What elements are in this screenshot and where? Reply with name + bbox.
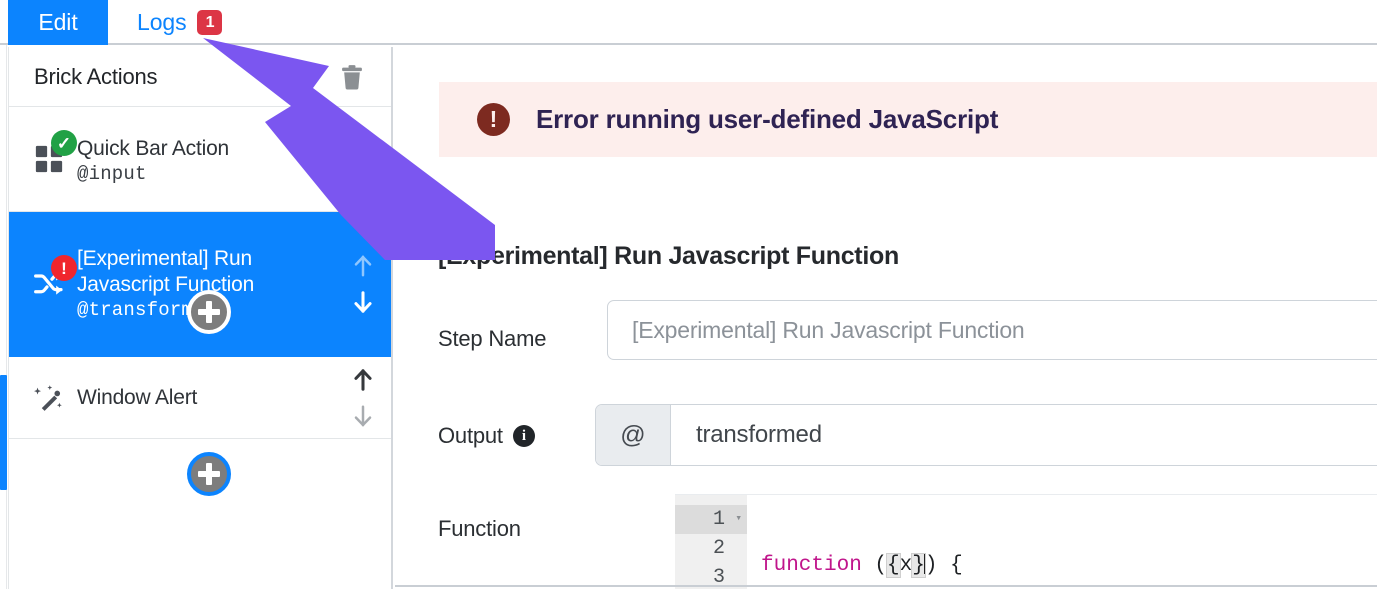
output-label-text: Output <box>438 423 503 449</box>
brick-actions-list: ✓ Quick Bar Action @input <box>9 107 391 439</box>
panel-bottom-divider <box>395 585 1377 587</box>
list-item-text: Quick Bar Action @input <box>73 132 341 187</box>
output-input[interactable]: transformed <box>671 405 1377 465</box>
list-item-output: @input <box>77 162 341 187</box>
error-banner: ! Error running user-defined JavaScript <box>439 82 1377 157</box>
function-code-editor[interactable]: 1 ▾ 2 3 function ({x}) { return x + y; } <box>675 494 1377 589</box>
quick-bar-action-icon-wrap: ✓ <box>25 135 73 183</box>
arrow-up-icon <box>350 253 376 279</box>
move-down-button[interactable] <box>348 401 378 431</box>
window-alert-icon-wrap <box>25 374 73 422</box>
arrow-down-icon <box>350 403 376 429</box>
list-item-move-buttons <box>341 251 385 317</box>
brick-actions-sidebar: Brick Actions <box>8 47 393 589</box>
list-item-selected[interactable]: ! [Experimental] Run Javascript Function… <box>9 212 391 357</box>
status-badge-success: ✓ <box>51 130 77 156</box>
tab-logs[interactable]: Logs 1 <box>122 0 254 45</box>
plus-icon <box>198 463 220 485</box>
check-icon: ✓ <box>57 135 71 152</box>
error-banner-message: Error running user-defined JavaScript <box>536 104 998 135</box>
list-item-move-buttons <box>341 365 385 431</box>
delete-button[interactable] <box>337 62 367 92</box>
move-up-button[interactable] <box>348 365 378 395</box>
arrow-down-icon <box>350 289 376 315</box>
tab-bar: Edit Logs 1 <box>0 0 1377 45</box>
tab-edit[interactable]: Edit <box>8 0 108 45</box>
move-down-button[interactable] <box>348 287 378 317</box>
sidebar-title: Brick Actions <box>34 64 283 90</box>
at-symbol-prefix: @ <box>596 405 671 465</box>
move-up-button[interactable] <box>348 251 378 281</box>
line-number: 2 <box>675 534 747 563</box>
code-fold-icon[interactable]: ▾ <box>735 505 742 534</box>
code-content[interactable]: function ({x}) { return x + y; } <box>747 495 1377 589</box>
tab-edit-label: Edit <box>38 9 77 36</box>
output-input-group: @ transformed <box>595 404 1377 466</box>
page-title: [Experimental] Run Javascript Function <box>438 242 899 271</box>
error-exclamation-icon: ! <box>477 103 510 136</box>
copy-icon <box>285 64 311 90</box>
window-scrollbar-thumb[interactable] <box>0 375 7 490</box>
run-javascript-icon-wrap: ! <box>25 260 73 308</box>
output-label: Output i <box>438 423 535 449</box>
step-name-input[interactable]: [Experimental] Run Javascript Function <box>607 300 1377 360</box>
sidebar-header-actions <box>283 62 373 92</box>
function-label: Function <box>438 516 521 542</box>
list-item[interactable]: ✓ Quick Bar Action @input <box>9 107 391 212</box>
window-scrollbar[interactable] <box>0 45 7 589</box>
insert-brick-button-2[interactable] <box>187 452 231 496</box>
brick-config-panel: ! Error running user-defined JavaScript … <box>395 47 1377 589</box>
list-item[interactable]: Window Alert <box>9 357 391 439</box>
insert-brick-button-1[interactable] <box>187 290 231 334</box>
code-line-1: function ({x}) { <box>761 551 1377 580</box>
logs-count-badge: 1 <box>197 10 222 35</box>
list-item-label: Window Alert <box>77 385 341 411</box>
info-icon[interactable]: i <box>513 425 535 447</box>
status-badge-error: ! <box>51 255 77 281</box>
code-gutter: 1 ▾ 2 3 <box>675 495 747 589</box>
copy-button[interactable] <box>283 62 313 92</box>
list-item-text: Window Alert <box>73 385 341 411</box>
sidebar-header: Brick Actions <box>9 47 391 107</box>
exclamation-icon: ! <box>61 260 67 277</box>
arrow-up-icon <box>350 367 376 393</box>
step-name-label: Step Name <box>438 326 546 352</box>
trash-icon <box>338 63 366 91</box>
tab-logs-label: Logs <box>137 9 186 36</box>
magic-wand-icon <box>33 382 65 414</box>
line-number: 1 ▾ <box>675 505 747 534</box>
plus-icon <box>198 301 220 323</box>
list-item-label: Quick Bar Action <box>77 136 341 162</box>
app-window: Edit Logs 1 Brick Actions <box>0 0 1377 589</box>
